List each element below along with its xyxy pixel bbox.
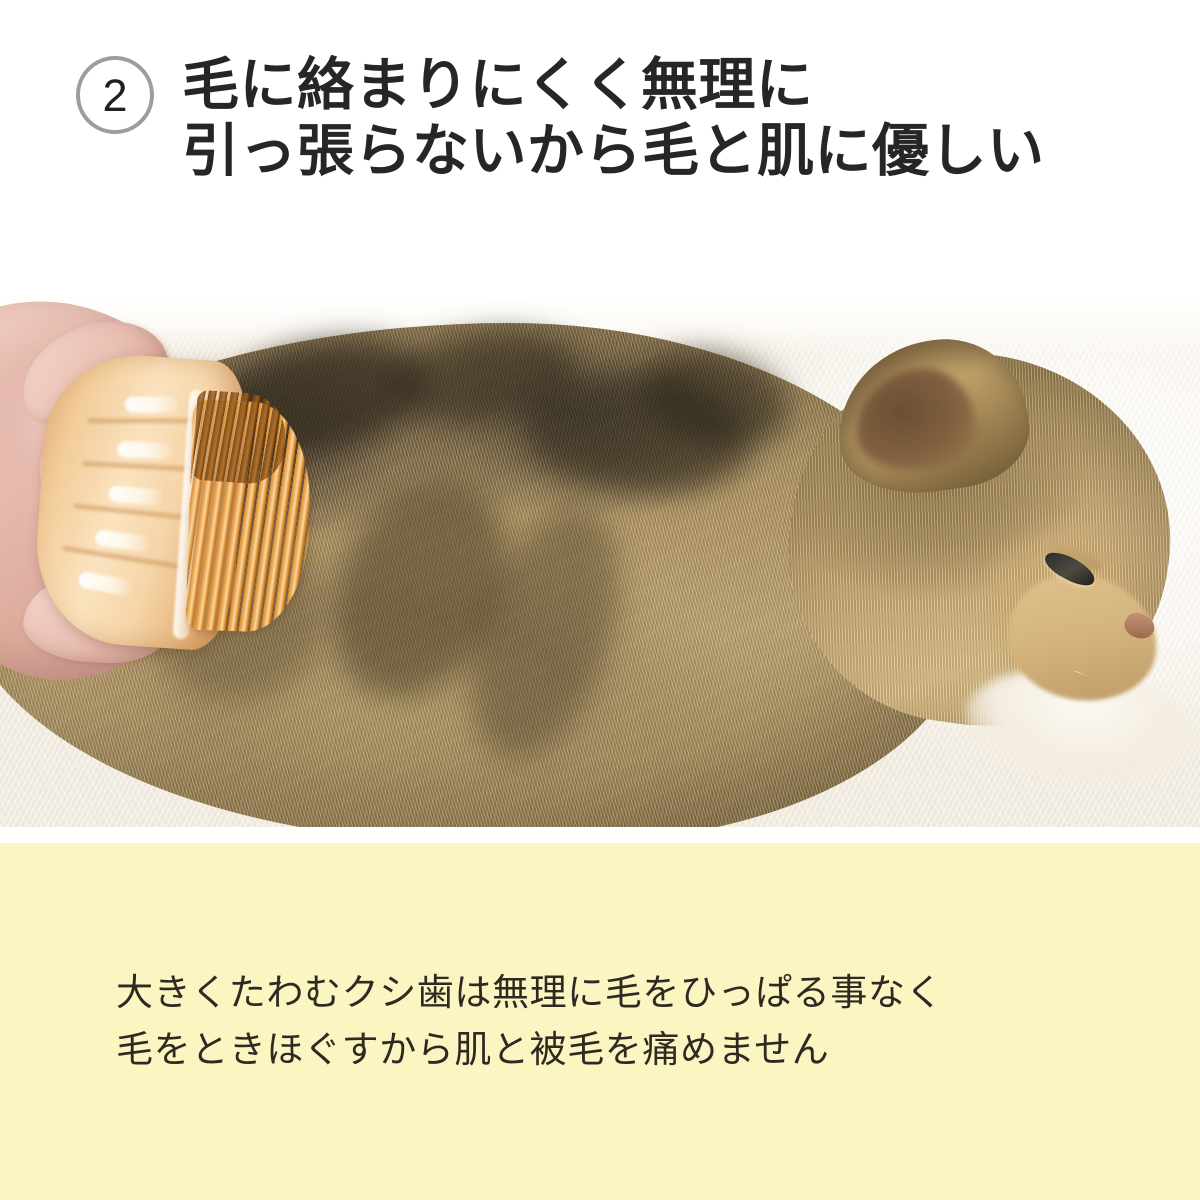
- headline-line-1: 毛に絡まりにくく無理に: [182, 52, 1045, 118]
- comb-handle-groove: [82, 461, 200, 472]
- header-section: 2 毛に絡まりにくく無理に 引っ張らないから毛と肌に優しい: [0, 0, 1200, 295]
- comb-handle-highlight: [117, 441, 172, 459]
- comb-handle-highlight: [94, 529, 150, 552]
- caption-line-1: 大きくたわむクシ歯は無理に毛をひっぱる事なく: [116, 965, 1200, 1021]
- grooming-comb: [30, 349, 280, 654]
- comb-handle-groove: [62, 546, 179, 569]
- badge-number: 2: [102, 73, 127, 118]
- comb-handle-highlight: [108, 485, 163, 506]
- circled-number-badge-icon: 2: [76, 56, 154, 134]
- comb-handle-groove: [73, 503, 191, 520]
- headline-line-2: 引っ張らないから毛と肌に優しい: [182, 118, 1045, 184]
- caption-panel: 大きくたわむクシ歯は無理に毛をひっぱる事なく 毛をときほぐすから肌と被毛を痛めま…: [0, 843, 1200, 1200]
- product-photo: [0, 295, 1200, 827]
- caption-line-2: 毛をときほぐすから肌と被毛を痛めません: [116, 1022, 1200, 1078]
- product-feature-card: 2 毛に絡まりにくく無理に 引っ張らないから毛と肌に優しい: [0, 0, 1200, 1200]
- cat-ear-inner: [849, 362, 982, 478]
- caption-text: 大きくたわむクシ歯は無理に毛をひっぱる事なく 毛をときほぐすから肌と被毛を痛めま…: [116, 965, 1200, 1077]
- comb-handle-highlight: [125, 397, 179, 413]
- comb-handle-highlight: [77, 571, 133, 597]
- section-divider: [0, 827, 1200, 843]
- comb-teeth-shadowed: [192, 390, 288, 486]
- page-title: 毛に絡まりにくく無理に 引っ張らないから毛と肌に優しい: [182, 52, 1045, 184]
